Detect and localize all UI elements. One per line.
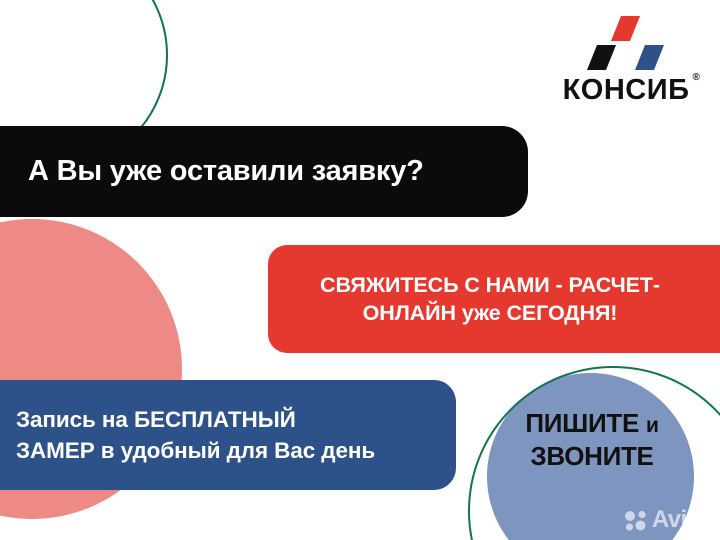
offer-line-2-online: ОНЛАЙН: [363, 301, 462, 325]
logo-wordmark: КОНСИБ ®: [563, 76, 690, 105]
offer-line-2-today: СЕГОДНЯ!: [506, 301, 617, 325]
offer-line-2-already: уже: [462, 301, 507, 325]
callout-line-1-write: ПИШИТЕ: [525, 408, 646, 438]
promo-banner: КОНСИБ ® А Вы уже оставили заявку? СВЯЖИ…: [0, 0, 720, 540]
logo-mark-icon: [587, 16, 665, 72]
offer-panel: СВЯЖИТЕСЬ С НАМИ - РАСЧЕТ- ОНЛАЙН уже СЕ…: [268, 245, 720, 353]
company-logo: КОНСИБ ®: [546, 16, 706, 105]
measurement-line-2: ЗАМЕР в удобный для Вас день: [16, 438, 375, 463]
registered-trademark-symbol: ®: [693, 73, 701, 83]
headline-panel: А Вы уже оставили заявку?: [0, 126, 528, 217]
callout-line-2-call: ЗВОНИТЕ: [530, 441, 653, 471]
contact-callout-text: ПИШИТЕ и ЗВОНИТЕ: [490, 407, 694, 474]
free-measurement-text: Запись на БЕСПЛАТНЫЙ ЗАМЕР в удобный для…: [16, 404, 375, 466]
avito-wordmark: Avito: [652, 508, 708, 532]
logo-wordmark-text: КОНСИБ: [563, 74, 690, 106]
avito-watermark: Avito: [625, 508, 708, 532]
avito-dots-icon: [625, 510, 648, 531]
callout-line-1-and: и: [646, 414, 659, 437]
measurement-line-1: Запись на БЕСПЛАТНЫЙ: [16, 407, 296, 432]
offer-text: СВЯЖИТЕСЬ С НАМИ - РАСЧЕТ- ОНЛАЙН уже СЕ…: [286, 271, 718, 328]
free-measurement-panel: Запись на БЕСПЛАТНЫЙ ЗАМЕР в удобный для…: [0, 380, 456, 490]
headline-text: А Вы уже оставили заявку?: [28, 156, 424, 188]
offer-line-1: СВЯЖИТЕСЬ С НАМИ - РАСЧЕТ-: [320, 273, 660, 297]
